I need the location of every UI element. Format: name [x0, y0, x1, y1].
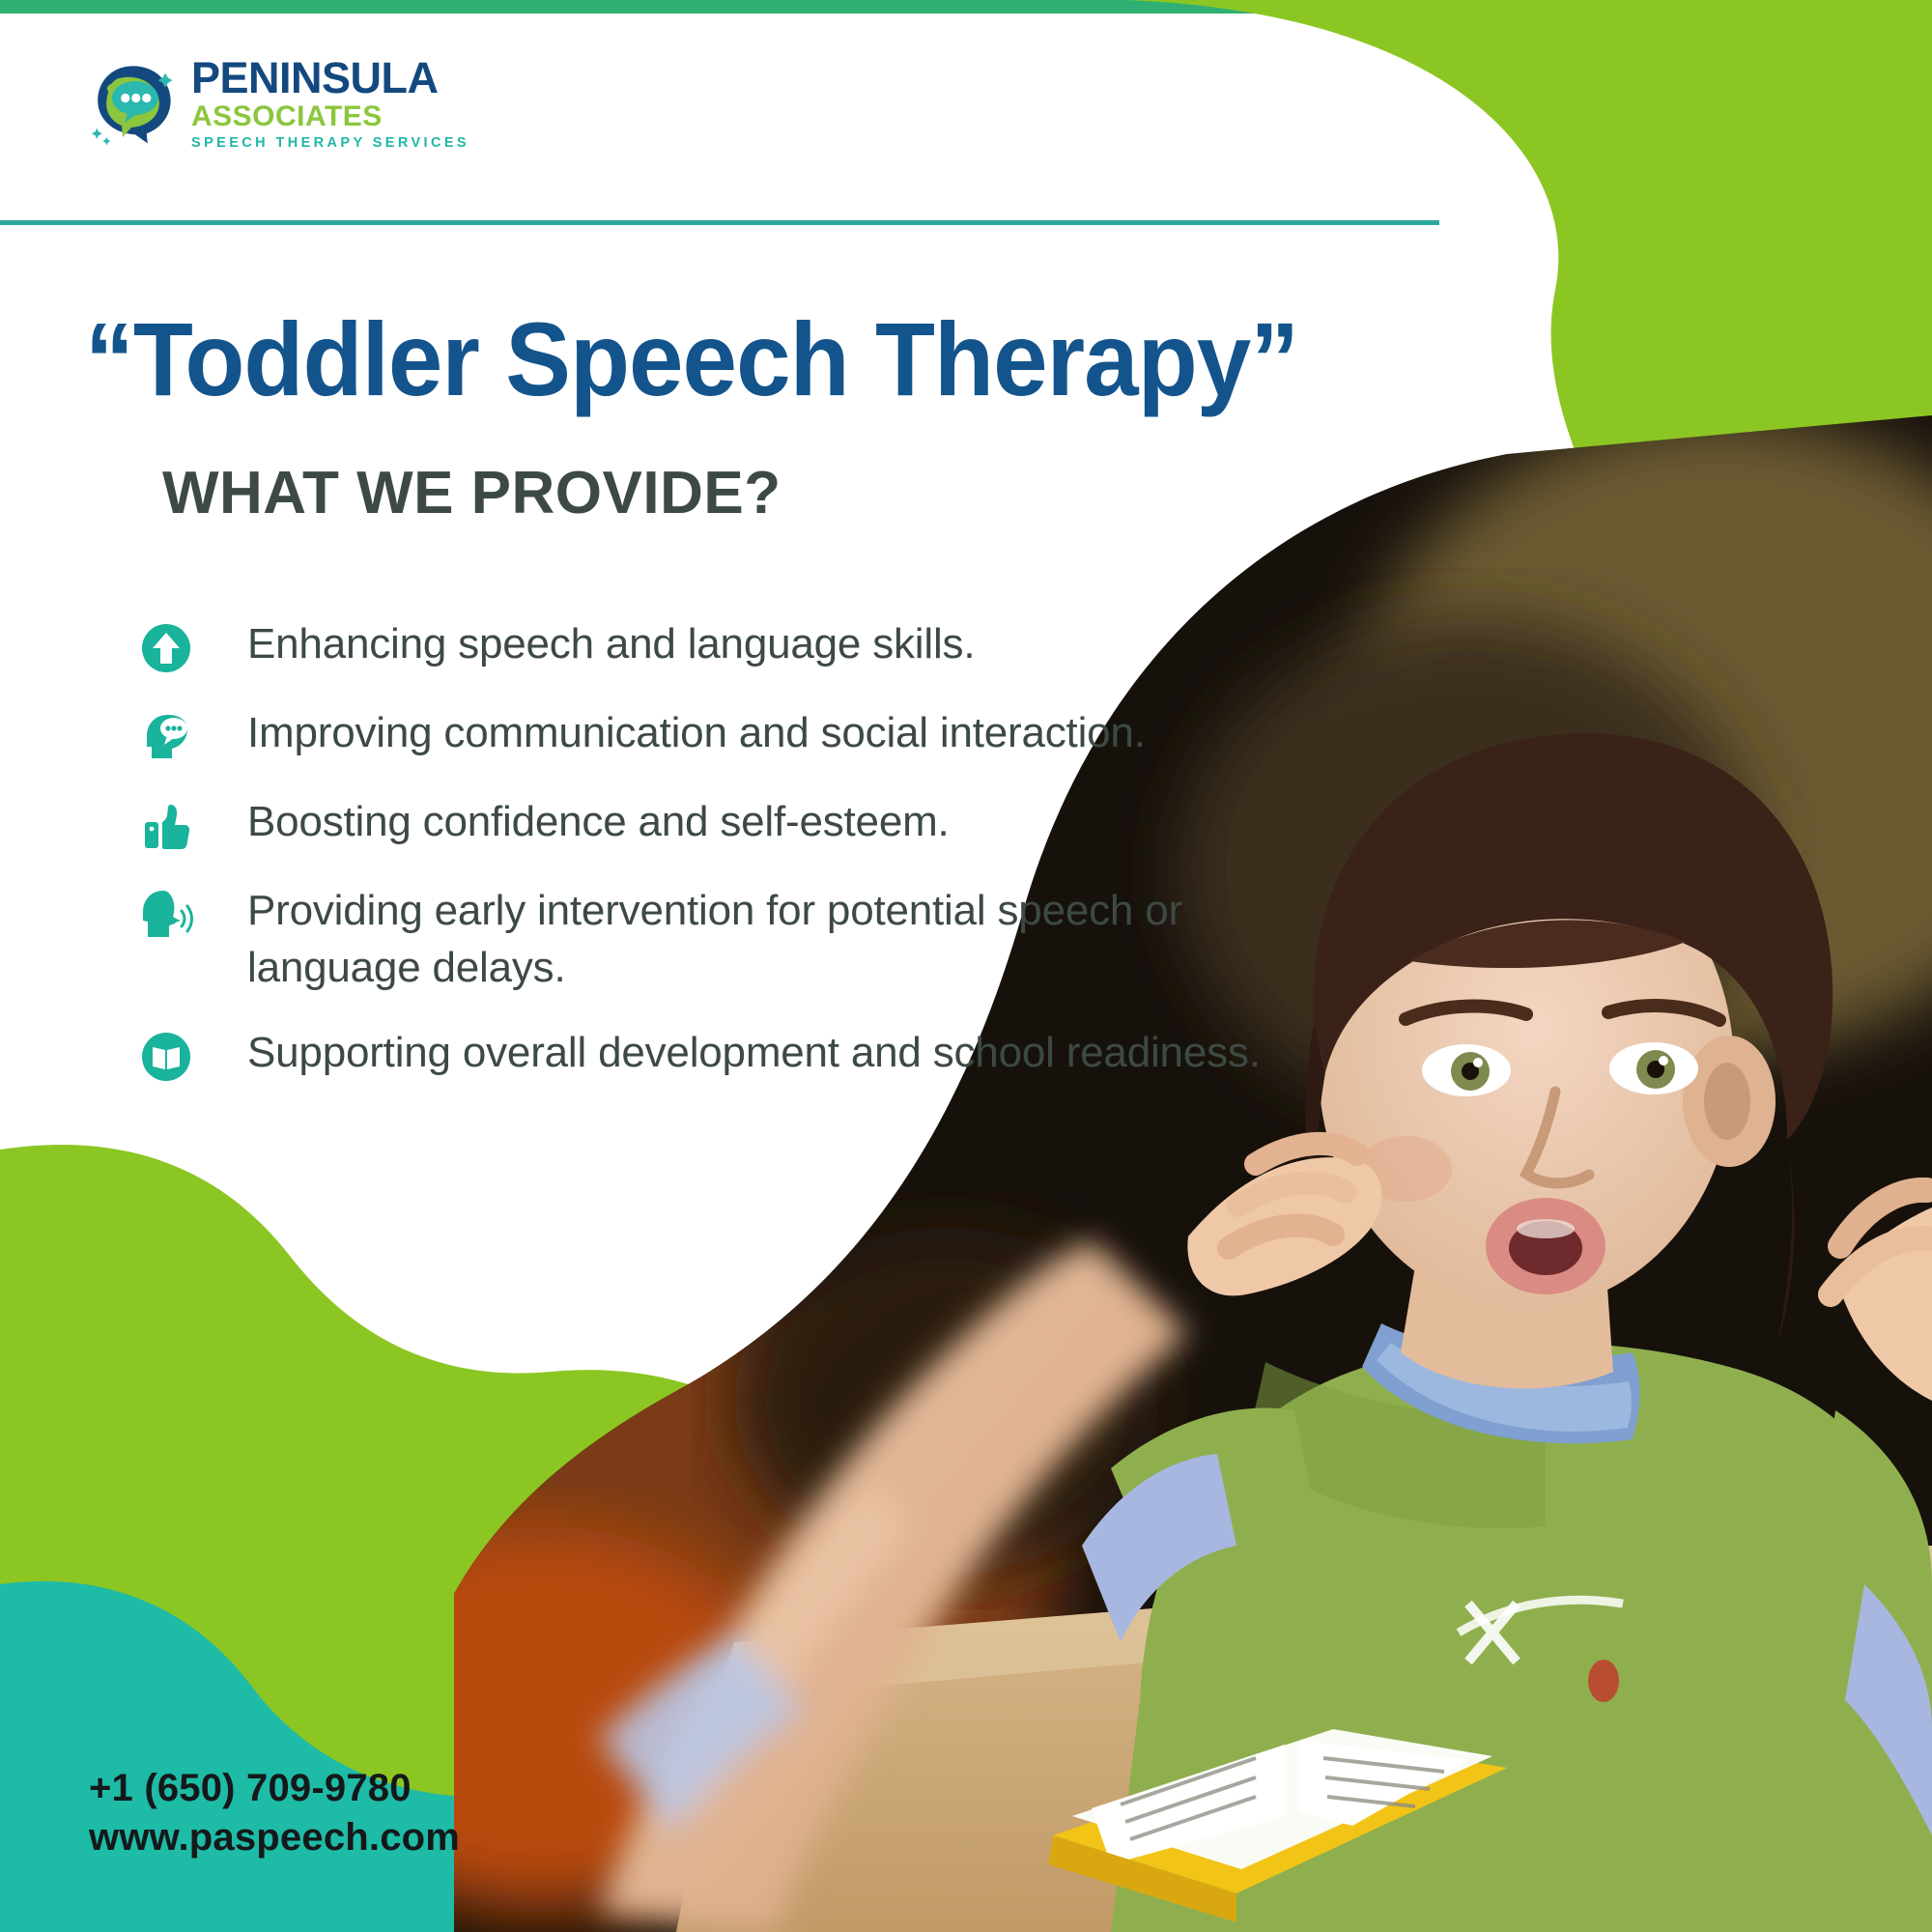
list-item: Providing early intervention for potenti…: [135, 883, 1343, 996]
list-item-label: Providing early intervention for potenti…: [247, 883, 1343, 996]
brand-logo[interactable]: PENINSULA ASSOCIATES SPEECH THERAPY SERV…: [89, 56, 469, 151]
brand-name-secondary: ASSOCIATES: [191, 102, 469, 131]
list-item-label: Enhancing speech and language skills.: [247, 616, 975, 673]
list-item-label: Supporting overall development and schoo…: [247, 1025, 1261, 1082]
contact-footer: +1 (650) 709-9780 www.paspeech.com: [89, 1764, 460, 1862]
page-title: “Toddler Speech Therapy”: [85, 307, 1375, 412]
list-item: Improving communication and social inter…: [135, 705, 1343, 765]
brand-wordmark: PENINSULA ASSOCIATES SPEECH THERAPY SERV…: [191, 56, 469, 151]
list-item-label: Boosting confidence and self-esteem.: [247, 794, 950, 851]
list-item: Enhancing speech and language skills.: [135, 616, 1343, 676]
thumbs-up-icon: [135, 798, 197, 854]
poster-canvas: PENINSULA ASSOCIATES SPEECH THERAPY SERV…: [0, 0, 1932, 1932]
speech-bubble-logo-icon: [89, 59, 178, 148]
list-item: Supporting overall development and schoo…: [135, 1025, 1343, 1085]
website-url[interactable]: www.paspeech.com: [89, 1813, 460, 1862]
head-speech-bubble-icon: [135, 709, 197, 765]
list-item: Boosting confidence and self-esteem.: [135, 794, 1343, 854]
speaking-head-icon: [135, 887, 197, 943]
section-subtitle: WHAT WE PROVIDE?: [162, 464, 781, 524]
arrow-up-circle-icon: [135, 620, 197, 676]
brand-tagline: SPEECH THERAPY SERVICES: [191, 136, 469, 151]
open-book-circle-icon: [135, 1029, 197, 1085]
header-divider: [0, 220, 1439, 225]
benefits-list: Enhancing speech and language skills. Im…: [135, 616, 1343, 1114]
brand-name-primary: PENINSULA: [191, 56, 469, 99]
phone-number[interactable]: +1 (650) 709-9780: [89, 1764, 460, 1813]
list-item-label: Improving communication and social inter…: [247, 705, 1146, 762]
